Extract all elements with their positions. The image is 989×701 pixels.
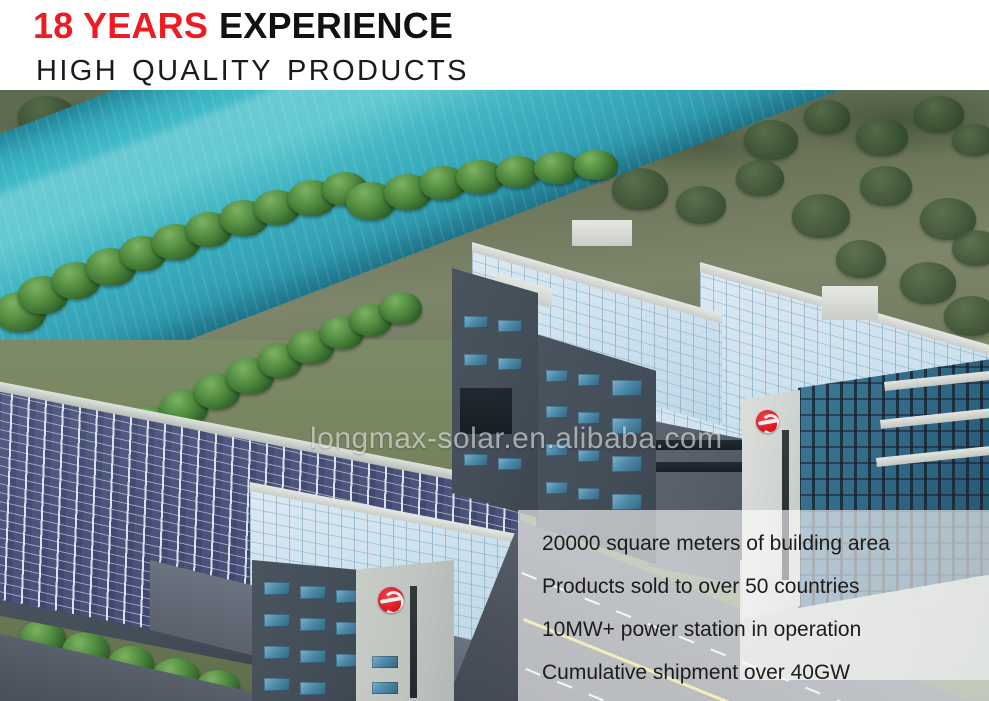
headline-word-products: PRODUCTS	[287, 55, 469, 87]
fact-line: More than 100 patents	[542, 694, 989, 701]
factory-campus-photo: longmax-solar.en.alibaba.com 20000 squar…	[0, 90, 989, 701]
headline-primary: 18 YEARSEXPERIENCE	[33, 4, 453, 48]
central-dark-office-block	[252, 560, 364, 701]
rooftop-penthouse-a	[572, 220, 632, 246]
factory-main-facade	[452, 268, 538, 518]
red-circle-s-logo	[378, 587, 404, 613]
fact-line: 10MW+ power station in operation	[542, 608, 989, 651]
red-circle-s-logo-tower	[756, 410, 779, 433]
promo-banner-page: 18 YEARSEXPERIENCE HIGHQUALITYPRODUCTS	[0, 0, 989, 701]
fact-line: Cumulative shipment over 40GW	[542, 651, 989, 694]
headline-word-quality: QUALITY	[132, 55, 273, 87]
left-corner-tower	[356, 560, 454, 701]
headline-years-experience-red: 18 YEARS	[33, 5, 208, 46]
fact-line: Products sold to over 50 countries	[542, 565, 989, 608]
headline-experience-black: EXPERIENCE	[219, 5, 453, 46]
headline-secondary: HIGHQUALITYPRODUCTS	[36, 54, 469, 88]
rooftop-penthouse-c	[822, 286, 878, 320]
fact-line: 20000 square meters of building area	[542, 522, 989, 565]
headline-word-high: HIGH	[36, 55, 118, 87]
facts-overlay-panel: 20000 square meters of building area Pro…	[518, 510, 989, 701]
banner-header: 18 YEARSEXPERIENCE HIGHQUALITYPRODUCTS	[0, 0, 989, 90]
